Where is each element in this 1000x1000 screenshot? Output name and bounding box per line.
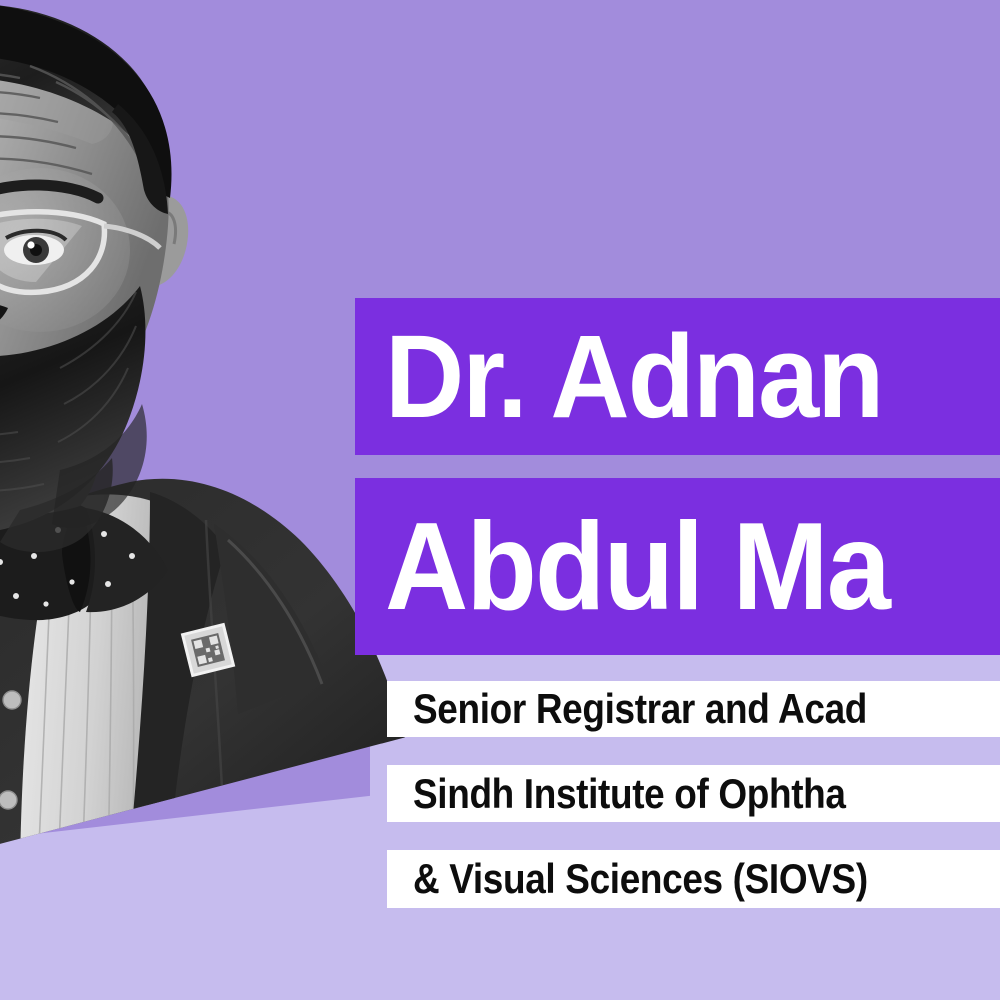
name-banner-line-1: Dr. Adnan [355,298,1000,455]
subtitle-strip-1: Senior Registrar and Acad [387,681,1000,737]
lapel-pin [183,625,234,676]
subtitle-line-1: Senior Registrar and Acad [413,688,867,730]
name-line-2: Abdul Ma [385,505,889,629]
speaker-card: Dr. Adnan Abdul Ma Senior Registrar and … [0,0,1000,1000]
subtitle-strip-3: & Visual Sciences (SIOVS) [387,850,1000,908]
name-line-1: Dr. Adnan [385,318,882,436]
subtitle-strip-2: Sindh Institute of Ophtha [387,765,1000,822]
name-banner-line-2: Abdul Ma [355,478,1000,655]
subtitle-line-2: Sindh Institute of Ophtha [413,773,846,815]
subtitle-line-3: & Visual Sciences (SIOVS) [413,858,868,900]
